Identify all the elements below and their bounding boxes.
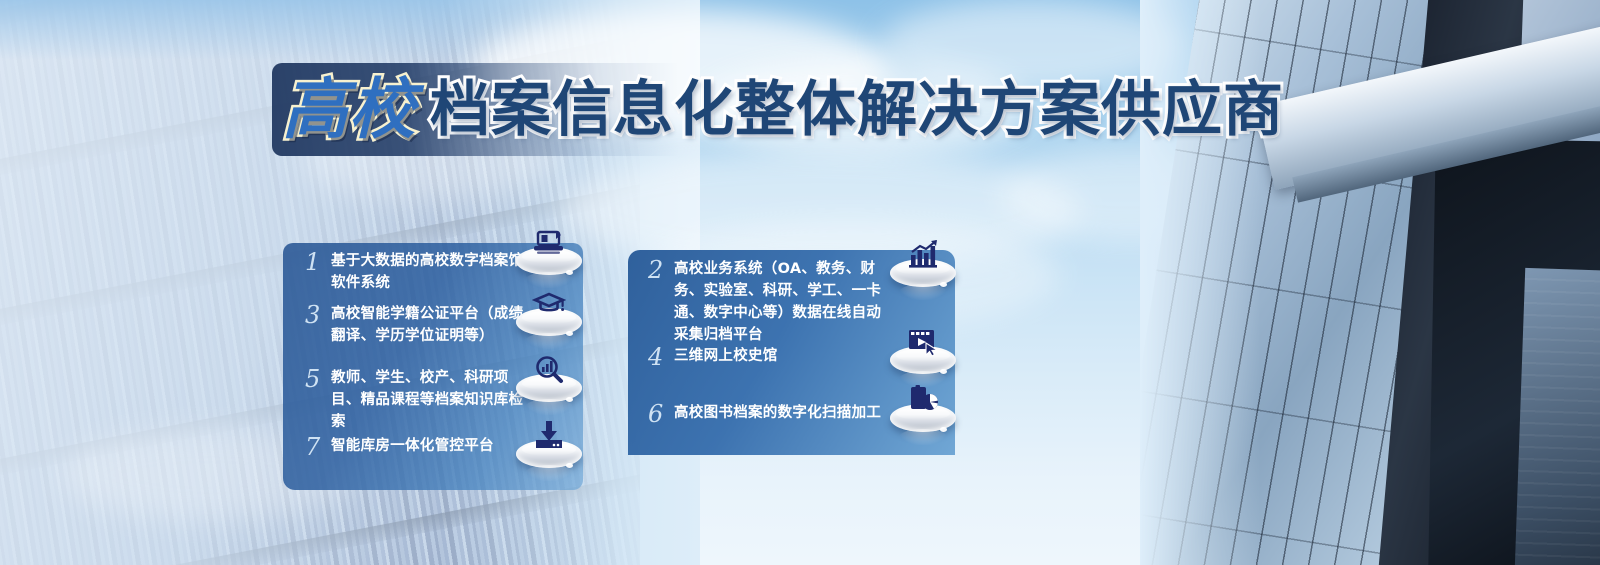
- icon-reflection: [525, 272, 573, 288]
- item-icon-disc[interactable]: [890, 388, 956, 444]
- promo-banner: 高校 档案信息化整体解决方案供应商 1 基于大数据的高校数字档案馆软件系统 3 …: [0, 0, 1600, 565]
- item-icon-disc[interactable]: [890, 243, 956, 299]
- item-number: 3: [305, 303, 331, 326]
- list-item[interactable]: 4 三维网上校史馆: [648, 345, 886, 368]
- graduation-cap-icon: [532, 288, 566, 320]
- icon-reflection: [899, 429, 947, 445]
- item-label: 高校智能学籍公证平台（成绩翻译、学历学位证明等）: [331, 303, 530, 347]
- item-label: 三维网上校史馆: [674, 345, 778, 367]
- page-title: 高校 档案信息化整体解决方案供应商: [282, 66, 1284, 154]
- laptop-scanner-icon: [532, 227, 566, 259]
- item-number: 2: [648, 258, 674, 281]
- icon-reflection: [525, 399, 573, 415]
- icon-reflection: [899, 284, 947, 300]
- item-icon-disc[interactable]: [516, 424, 582, 480]
- download-archive-icon: [532, 420, 566, 452]
- list-item[interactable]: 2 高校业务系统（OA、教务、财务、实验室、科研、学工、一卡通、数字中心等）数据…: [648, 258, 886, 346]
- item-number: 6: [648, 402, 674, 425]
- item-label: 基于大数据的高校数字档案馆软件系统: [331, 250, 530, 294]
- list-item[interactable]: 6 高校图书档案的数字化扫描加工: [648, 402, 886, 425]
- item-number: 5: [305, 367, 331, 390]
- item-number: 4: [648, 345, 674, 368]
- icon-reflection: [525, 333, 573, 349]
- item-icon-disc[interactable]: [516, 292, 582, 348]
- title-highlight: 高校: [282, 77, 416, 143]
- tower-reflection: [1515, 268, 1600, 565]
- item-label: 高校业务系统（OA、教务、财务、实验室、科研、学工、一卡通、数字中心等）数据在线…: [674, 258, 886, 346]
- list-item[interactable]: 1 基于大数据的高校数字档案馆软件系统: [305, 250, 530, 294]
- magnifier-chart-icon: [532, 354, 566, 386]
- item-number: 7: [305, 435, 331, 458]
- list-item[interactable]: 5 教师、学生、校产、科研项目、精品课程等档案知识库检索: [305, 367, 537, 433]
- item-icon-disc[interactable]: [516, 358, 582, 414]
- item-icon-disc[interactable]: [516, 231, 582, 287]
- item-number: 1: [305, 250, 331, 273]
- bar-chart-trend-icon: [906, 239, 940, 271]
- book-scan-icon: [906, 384, 940, 416]
- item-icon-disc[interactable]: [890, 330, 956, 386]
- video-play-cursor-icon: [906, 326, 940, 358]
- title-rest: 档案信息化整体解决方案供应商: [430, 80, 1284, 140]
- item-label: 高校图书档案的数字化扫描加工: [674, 402, 881, 424]
- list-item[interactable]: 3 高校智能学籍公证平台（成绩翻译、学历学位证明等）: [305, 303, 530, 347]
- item-label: 智能库房一体化管控平台: [331, 435, 494, 457]
- item-label: 教师、学生、校产、科研项目、精品课程等档案知识库检索: [331, 367, 537, 433]
- list-item[interactable]: 7 智能库房一体化管控平台: [305, 435, 537, 458]
- icon-reflection: [525, 465, 573, 481]
